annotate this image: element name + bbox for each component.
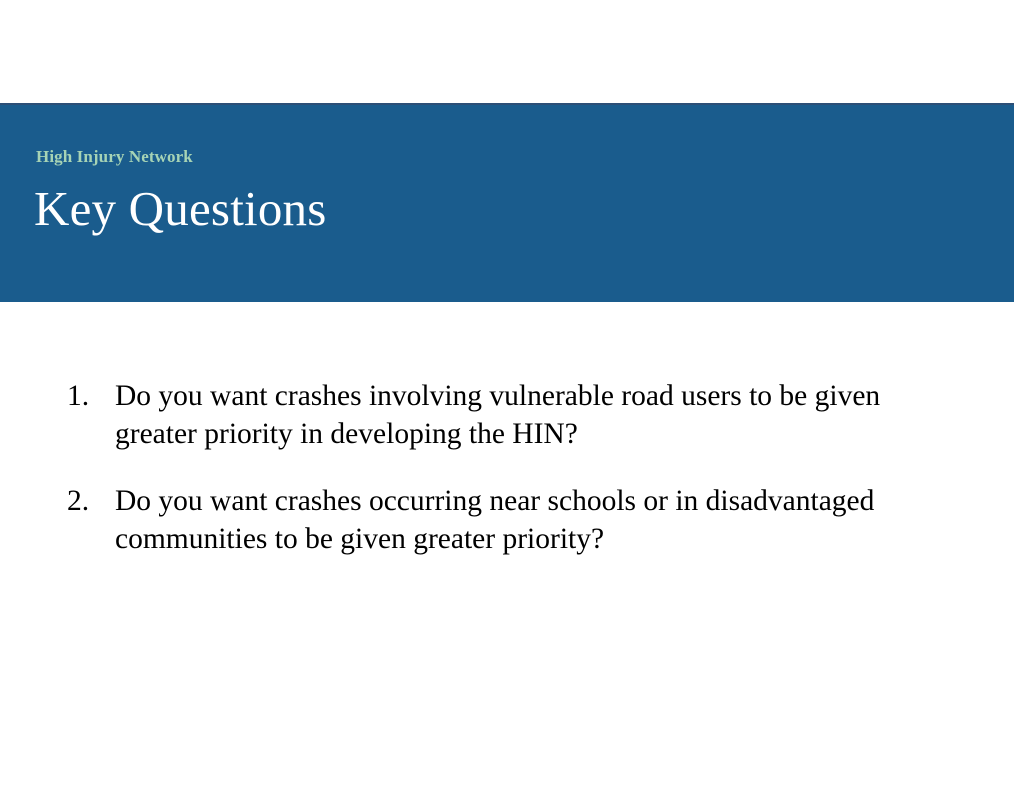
list-item-text: Do you want crashes involving vulnerable…: [115, 378, 954, 453]
list-item-number: 2.: [67, 483, 107, 521]
slide: High Injury Network Key Questions 1. Do …: [0, 0, 1024, 791]
header-kicker: High Injury Network: [36, 147, 193, 167]
list-item: 1. Do you want crashes involving vulnera…: [0, 378, 1024, 453]
list-item: 2. Do you want crashes occurring near sc…: [0, 483, 1024, 558]
body-content: 1. Do you want crashes involving vulnera…: [0, 378, 1024, 558]
header-banner: High Injury Network Key Questions: [0, 103, 1014, 302]
list-item-number: 1.: [67, 378, 107, 416]
list-item-text: Do you want crashes occurring near schoo…: [115, 483, 954, 558]
question-list: 1. Do you want crashes involving vulnera…: [0, 378, 1024, 558]
page-title: Key Questions: [34, 183, 327, 236]
